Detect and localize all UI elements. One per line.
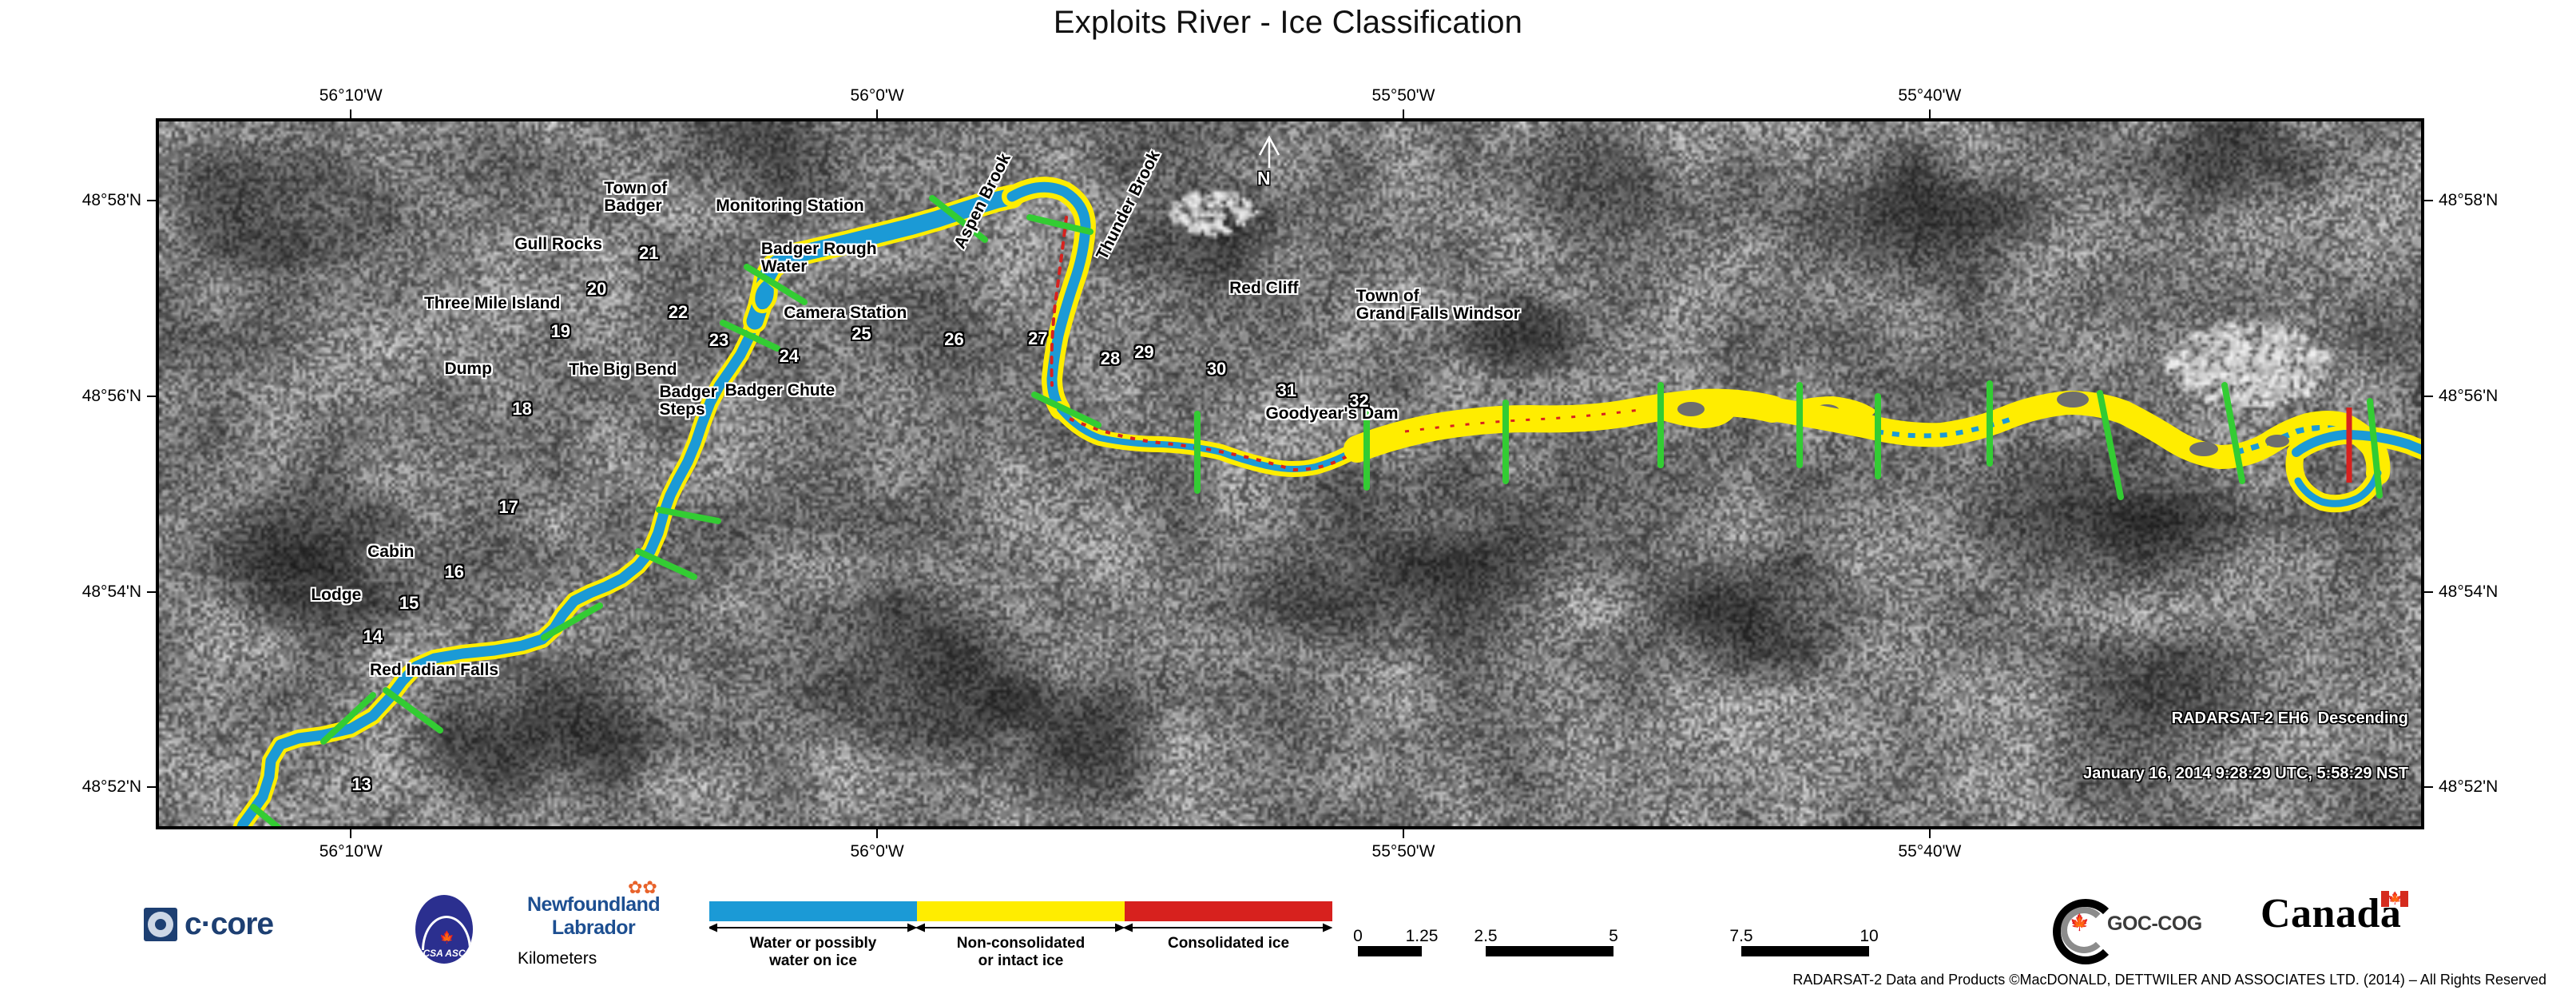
lon-label-bottom: 56°0'W xyxy=(850,842,903,861)
goc-cog-logo: 🍁 GOC-COG xyxy=(2053,899,2202,948)
pitcher-plant-icon: ✿✿ xyxy=(628,877,657,898)
lon-label-top: 55°50'W xyxy=(1372,86,1435,105)
lon-tick xyxy=(350,109,351,118)
lat-label-right: 48°52'N xyxy=(2439,777,2498,797)
lon-label-top: 55°40'W xyxy=(1898,86,1961,105)
lon-tick xyxy=(876,109,878,118)
lat-label-left: 48°52'N xyxy=(52,777,141,797)
lat-tick xyxy=(2424,591,2433,593)
nl-wordmark-line2: Labrador xyxy=(527,916,660,940)
csa-oval-icon: 🍁 CSA ASC xyxy=(415,895,473,964)
lon-label-bottom: 55°40'W xyxy=(1898,842,1961,861)
newfoundland-labrador-logo: ✿✿ Newfoundland Labrador xyxy=(527,893,660,940)
scale-bar-tick-labels: 01.252.557.510 xyxy=(1358,927,1869,946)
legend-color-bars xyxy=(709,901,1332,921)
csa-wordmark: CSA ASC xyxy=(420,948,468,959)
lon-tick xyxy=(1403,829,1404,838)
goc-wordmark: GOC-COG xyxy=(2107,912,2202,936)
scale-tick-1.25: 1.25 xyxy=(1406,927,1439,946)
legend-label-2: Consolidated ice xyxy=(1125,935,1332,970)
legend-swatch-2 xyxy=(1125,901,1332,921)
lat-label-right: 48°56'N xyxy=(2439,387,2498,406)
canada-wordmark-logo: Canada 🍁 xyxy=(2260,893,2409,935)
scale-tick-7.5: 7.5 xyxy=(1729,927,1752,946)
lat-label-right: 48°54'N xyxy=(2439,582,2498,602)
lat-tick xyxy=(2424,396,2433,397)
legend-labels: Water or possiblywater on iceNon-consoli… xyxy=(709,935,1332,970)
ccore-mark-icon xyxy=(144,908,177,941)
copyright-notice: RADARSAT-2 Data and Products ©MacDONALD,… xyxy=(0,972,2546,988)
lat-tick xyxy=(147,591,156,593)
acquisition-info: RADARSAT-2 EH6 Descending January 16, 20… xyxy=(2083,673,2408,820)
scale-tick-10: 10 xyxy=(1860,927,1878,946)
scale-tick-5: 5 xyxy=(1609,927,1618,946)
csa-asc-logo: 🍁 CSA ASC xyxy=(415,895,473,964)
lat-tick xyxy=(147,200,156,201)
scale-tick-2.5: 2.5 xyxy=(1474,927,1497,946)
lon-tick xyxy=(876,829,878,838)
scale-bar-units: Kilometers xyxy=(518,949,597,968)
lat-tick xyxy=(147,786,156,788)
scale-bar-track xyxy=(1358,946,1869,956)
lon-tick xyxy=(350,829,351,838)
acquisition-line1: RADARSAT-2 EH6 Descending xyxy=(2083,710,2408,728)
lat-label-left: 48°58'N xyxy=(52,191,141,210)
maple-leaf-icon: 🍁 xyxy=(2070,915,2090,931)
legend-label-1: Non-consolidatedor intact ice xyxy=(917,935,1125,970)
map-canvas[interactable]: Town of BadgerMonitoring StationGull Roc… xyxy=(156,118,2424,829)
ccore-logo: c·core xyxy=(144,907,273,942)
legend-swatch-0 xyxy=(709,901,917,921)
goc-mark-icon: 🍁 xyxy=(2053,899,2102,948)
lat-label-right: 48°58'N xyxy=(2439,191,2498,210)
river-ice-classification-overlay xyxy=(159,121,2421,826)
lat-tick xyxy=(147,396,156,397)
ice-classification-legend: Water or possiblywater on iceNon-consoli… xyxy=(709,901,1332,970)
lon-label-bottom: 55°50'W xyxy=(1372,842,1435,861)
transect-lines xyxy=(205,198,2380,826)
legend-swatch-1 xyxy=(917,901,1125,921)
lon-label-top: 56°10'W xyxy=(320,86,383,105)
acquisition-line2: January 16, 2014 9:28:29 UTC, 5:58:29 NS… xyxy=(2083,765,2408,783)
lon-tick xyxy=(1929,829,1931,838)
legend-label-0: Water or possiblywater on ice xyxy=(709,935,917,970)
lon-label-top: 56°0'W xyxy=(850,86,903,105)
scale-bar: 01.252.557.510 xyxy=(1358,927,1869,956)
lat-tick xyxy=(2424,786,2433,788)
scale-tick-0: 0 xyxy=(1353,927,1363,946)
ccore-wordmark: c·core xyxy=(185,907,273,942)
maple-leaf-icon: 🍁 xyxy=(439,932,454,944)
lat-label-left: 48°54'N xyxy=(52,582,141,602)
lon-tick xyxy=(1403,109,1404,118)
page-title: Exploits River - Ice Classification xyxy=(0,5,2576,41)
lat-tick xyxy=(2424,200,2433,201)
lon-label-bottom: 56°10'W xyxy=(320,842,383,861)
canada-flag-icon: 🍁 xyxy=(2380,890,2409,908)
north-arrow-icon xyxy=(1252,136,1287,173)
lat-label-left: 48°56'N xyxy=(52,387,141,406)
lon-tick xyxy=(1929,109,1931,118)
legend-range-arrows xyxy=(709,921,1332,934)
